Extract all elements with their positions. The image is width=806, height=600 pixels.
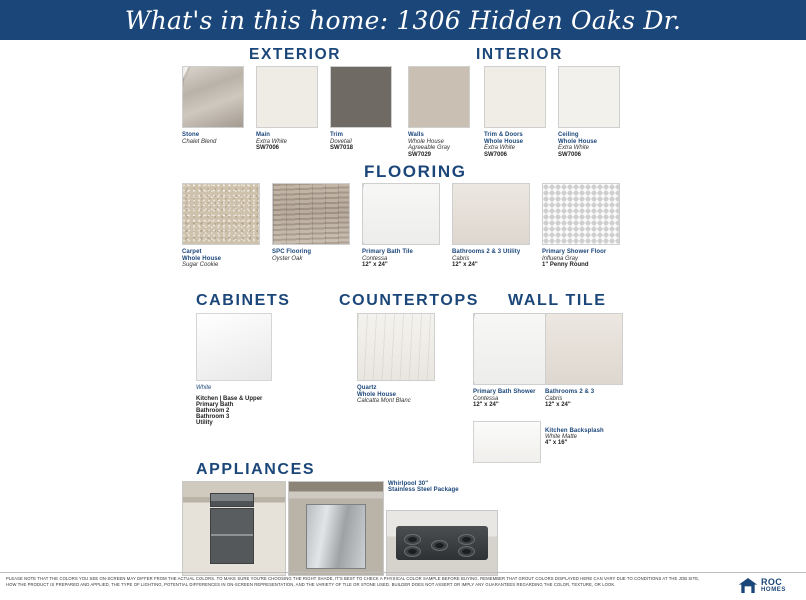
swatch-exterior-walls: Walls Whole House Agreeable Gray SW7029	[408, 66, 486, 159]
section-title-exterior: EXTERIOR	[249, 46, 341, 64]
swatch-name: Trim	[330, 132, 408, 139]
swatch-caption: Trim & Doors Whole House Extra White SW7…	[484, 132, 562, 159]
swatch-flooring-primary-bath-tile: Primary Bath Tile Contessa 12" x 24"	[362, 183, 440, 269]
swatch-sub: Contessa	[362, 256, 440, 263]
swatch-name: Bathrooms 2 & 3 Utility	[452, 249, 530, 256]
roc-homes-logo: ROC HOMES	[738, 573, 800, 597]
swatch-name: SPC Flooring	[272, 249, 350, 256]
swatch-walltile-bathrooms-2-3: Bathrooms 2 & 3 Cabris 12" x 24"	[545, 313, 623, 409]
swatch-size: 4" x 16"	[545, 440, 635, 446]
swatch-caption: Quartz Whole House Calcatta Mont Blanc	[357, 385, 435, 405]
swatch-name: Main	[256, 132, 334, 139]
oven-unit	[210, 508, 255, 564]
swatch-flooring-primary-shower-floor: Primary Shower Floor Influena Gray 1" Pe…	[542, 183, 620, 269]
swatch-sub: Whole House	[558, 139, 636, 146]
swatch-exterior-stone: Stone Chalet Blend	[182, 66, 260, 145]
swatch-size: 12" x 24"	[473, 402, 551, 409]
swatch-image-stone	[182, 66, 244, 128]
swatch-image-bathrooms-2-3	[545, 313, 623, 385]
swatch-caption: SPC Flooring Oyster Oak	[272, 249, 350, 262]
appliance-label-line2: Stainless Steel Package	[388, 487, 508, 493]
section-title-cabinets: CABINETS	[196, 292, 291, 310]
swatch-flooring-bathrooms-2-3-utility: Bathrooms 2 & 3 Utility Cabris 12" x 24"	[452, 183, 530, 269]
swatch-image-quartz	[357, 313, 435, 381]
swatch-cabinets-white: White	[196, 313, 274, 392]
swatch-caption: Primary Bath Shower Contessa 12" x 24"	[473, 389, 551, 409]
swatch-image-trim-doors	[484, 66, 546, 128]
appliance-photo-dishwasher	[288, 481, 384, 576]
swatch-caption: Bathrooms 2 & 3 Utility Cabris 12" x 24"	[452, 249, 530, 269]
burner	[431, 540, 448, 551]
list-item: Utility	[196, 420, 306, 426]
appliance-photo-wall-oven	[182, 481, 286, 576]
swatch-sub: Sugar Cookie	[182, 262, 260, 269]
page-title: What's in this home: 1306 Hidden Oaks Dr…	[125, 6, 681, 35]
swatch-image-primary-shower-floor	[542, 183, 620, 245]
swatch-exterior-trim: Trim Dovetail SW7018	[330, 66, 408, 152]
swatch-code: SW7029	[408, 152, 486, 159]
swatch-sub: Chalet Blend	[182, 139, 260, 146]
swatch-sub: Cabris	[452, 256, 530, 263]
burner	[458, 546, 475, 557]
swatch-countertop-quartz: Quartz Whole House Calcatta Mont Blanc	[357, 313, 435, 405]
swatch-interior-ceiling: Ceiling Whole House Extra White SW7006	[558, 66, 636, 159]
swatch-image-primary-bath-tile	[362, 183, 440, 245]
swatch-code: SW7006	[484, 152, 562, 159]
swatch-image-kitchen-backsplash	[473, 421, 541, 463]
swatch-size: 1" Penny Round	[542, 262, 620, 269]
swatch-name: Primary Bath Tile	[362, 249, 440, 256]
section-title-interior: INTERIOR	[476, 46, 563, 64]
swatch-name: Quartz	[357, 385, 435, 392]
swatch-caption: Trim Dovetail SW7018	[330, 132, 408, 152]
swatch-sub: Calcatta Mont Blanc	[357, 398, 435, 405]
swatch-caption: Carpet Whole House Sugar Cookie	[182, 249, 260, 269]
swatch-name: Primary Shower Floor	[542, 249, 620, 256]
swatch-sub: White	[196, 385, 274, 392]
appliance-photo-gas-range	[386, 510, 498, 576]
swatch-line2: Whole House	[357, 392, 435, 399]
swatch-image-main	[256, 66, 318, 128]
swatch-exterior-main: Main Extra White SW7006	[256, 66, 334, 152]
page-header: What's in this home: 1306 Hidden Oaks Dr…	[0, 0, 806, 40]
swatch-size: 12" x 24"	[545, 402, 623, 409]
burner	[458, 534, 475, 545]
logo-line1: ROC	[761, 578, 786, 587]
swatch-name: Stone	[182, 132, 260, 139]
section-title-appliances: APPLIANCES	[196, 461, 315, 479]
swatch-name: Bathrooms 2 & 3	[545, 389, 623, 396]
swatch-image-primary-bath-shower	[473, 313, 551, 385]
swatch-caption: Ceiling Whole House Extra White SW7006	[558, 132, 636, 159]
section-title-flooring: FLOORING	[364, 162, 467, 182]
logo-line2: HOMES	[761, 587, 786, 593]
burner	[404, 534, 421, 545]
swatch-sub: Whole House	[408, 139, 486, 146]
swatch-interior-trim-doors: Trim & Doors Whole House Extra White SW7…	[484, 66, 562, 159]
swatch-extra: Extra White	[484, 145, 562, 152]
dishwasher-unit	[306, 504, 366, 569]
burner	[404, 546, 421, 557]
swatch-sub: Oyster Oak	[272, 256, 350, 263]
swatch-caption: White	[196, 385, 274, 392]
swatch-name: Walls	[408, 132, 486, 139]
swatch-flooring-carpet: Carpet Whole House Sugar Cookie	[182, 183, 260, 269]
swatch-extra: Agreeable Gray	[408, 145, 486, 152]
swatch-sub: Contessa	[473, 396, 551, 403]
swatch-sub: Whole House	[484, 139, 562, 146]
page-footer: PLEASE NOTE THAT THE COLORS YOU SEE ON-S…	[0, 572, 806, 600]
section-title-wall-tile: WALL TILE	[508, 292, 607, 310]
section-title-countertops: COUNTERTOPS	[339, 292, 479, 310]
swatch-flooring-spc: SPC Flooring Oyster Oak	[272, 183, 350, 262]
house-icon	[738, 577, 758, 594]
cooktop-surface	[396, 526, 488, 559]
swatch-name: Primary Bath Shower	[473, 389, 551, 396]
swatch-image-trim	[330, 66, 392, 128]
swatch-code: SW7006	[558, 152, 636, 159]
swatch-name: Carpet	[182, 249, 260, 256]
swatch-image-bathrooms-2-3-utility	[452, 183, 530, 245]
microwave-unit	[210, 493, 255, 507]
swatch-image-ceiling	[558, 66, 620, 128]
swatch-walltile-kitchen-backsplash	[473, 421, 541, 463]
logo-text: ROC HOMES	[761, 578, 786, 593]
swatch-caption: Walls Whole House Agreeable Gray SW7029	[408, 132, 486, 159]
swatch-extra: Extra White	[558, 145, 636, 152]
swatch-image-spc	[272, 183, 350, 245]
swatch-sub: Extra White	[256, 139, 334, 146]
walltile-kitchen-backsplash-caption: Kitchen Backsplash White Matte 4" x 16"	[545, 428, 635, 446]
swatch-image-carpet	[182, 183, 260, 245]
cabinets-room-list: Kitchen | Base & Upper Primary Bath Bath…	[196, 396, 306, 426]
swatch-code: SW7006	[256, 145, 334, 152]
swatch-sub: Dovetail	[330, 139, 408, 146]
swatch-caption: Bathrooms 2 & 3 Cabris 12" x 24"	[545, 389, 623, 409]
swatch-caption: Primary Shower Floor Influena Gray 1" Pe…	[542, 249, 620, 269]
swatch-image-cabinet-white	[196, 313, 272, 381]
swatch-walltile-primary-bath-shower: Primary Bath Shower Contessa 12" x 24"	[473, 313, 551, 409]
swatch-caption: Stone Chalet Blend	[182, 132, 260, 145]
footer-disclaimer: PLEASE NOTE THAT THE COLORS YOU SEE ON-S…	[6, 576, 706, 589]
swatch-size: 12" x 24"	[452, 262, 530, 269]
swatch-name: Trim & Doors	[484, 132, 562, 139]
swatch-sub: Cabris	[545, 396, 623, 403]
appliance-package-label: Whirlpool 30" Stainless Steel Package	[388, 481, 508, 493]
swatch-size: 12" x 24"	[362, 262, 440, 269]
swatch-sub: Influena Gray	[542, 256, 620, 263]
swatch-name: Ceiling	[558, 132, 636, 139]
swatch-line2: Whole House	[182, 256, 260, 263]
swatch-caption: Main Extra White SW7006	[256, 132, 334, 152]
swatch-code: SW7018	[330, 145, 408, 152]
swatch-image-walls	[408, 66, 470, 128]
swatch-caption: Primary Bath Tile Contessa 12" x 24"	[362, 249, 440, 269]
